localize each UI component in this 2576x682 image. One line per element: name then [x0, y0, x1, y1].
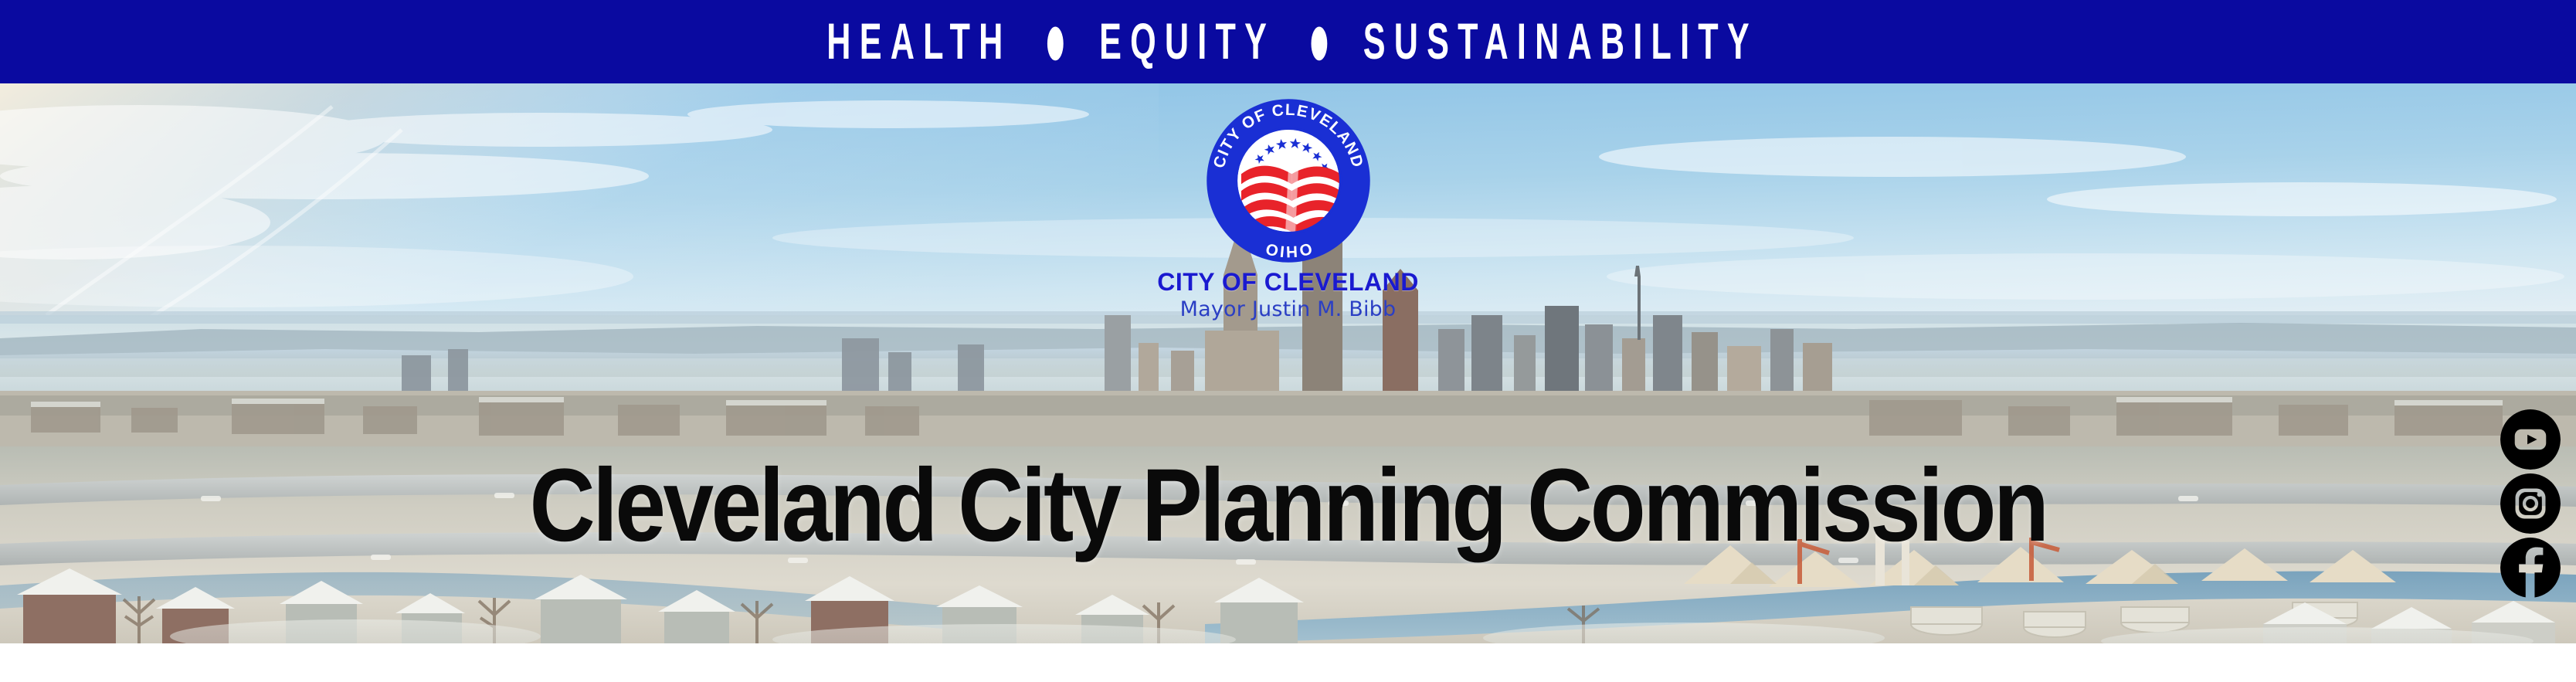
page-root: HEALTH EQUITY SUSTAINABILITY	[0, 0, 2576, 682]
social-link-youtube[interactable]	[2500, 409, 2561, 470]
social-link-instagram[interactable]	[2500, 473, 2561, 534]
city-of-cleveland-seal-icon: CITY OF CLEVELAND OHIO	[1204, 97, 1373, 265]
social-links	[2500, 409, 2561, 598]
youtube-icon[interactable]	[2500, 409, 2561, 470]
tagline-word-health: HEALTH	[826, 16, 1011, 67]
social-link-facebook[interactable]	[2500, 538, 2561, 598]
footer-white-strip	[0, 643, 2576, 682]
tagline-word-sustainability: SUSTAINABILITY	[1363, 16, 1758, 67]
tagline-word-equity: EQUITY	[1099, 16, 1275, 67]
instagram-icon[interactable]	[2500, 473, 2561, 534]
tagline-separator-dot-2	[1311, 26, 1327, 60]
mayor-name-label: Mayor Justin M. Bibb	[1180, 299, 1397, 321]
tagline-text-group: HEALTH EQUITY SUSTAINABILITY	[818, 16, 1758, 67]
city-name-label: CITY OF CLEVELAND	[1157, 270, 1419, 296]
tagline-separator-dot-1	[1047, 26, 1064, 60]
city-brand-block: CITY OF CLEVELAND OHIO	[0, 97, 2576, 321]
page-title: Cleveland City Planning Commission	[154, 454, 2422, 558]
tagline-banner: HEALTH EQUITY SUSTAINABILITY	[0, 0, 2576, 83]
facebook-icon[interactable]	[2500, 538, 2561, 598]
